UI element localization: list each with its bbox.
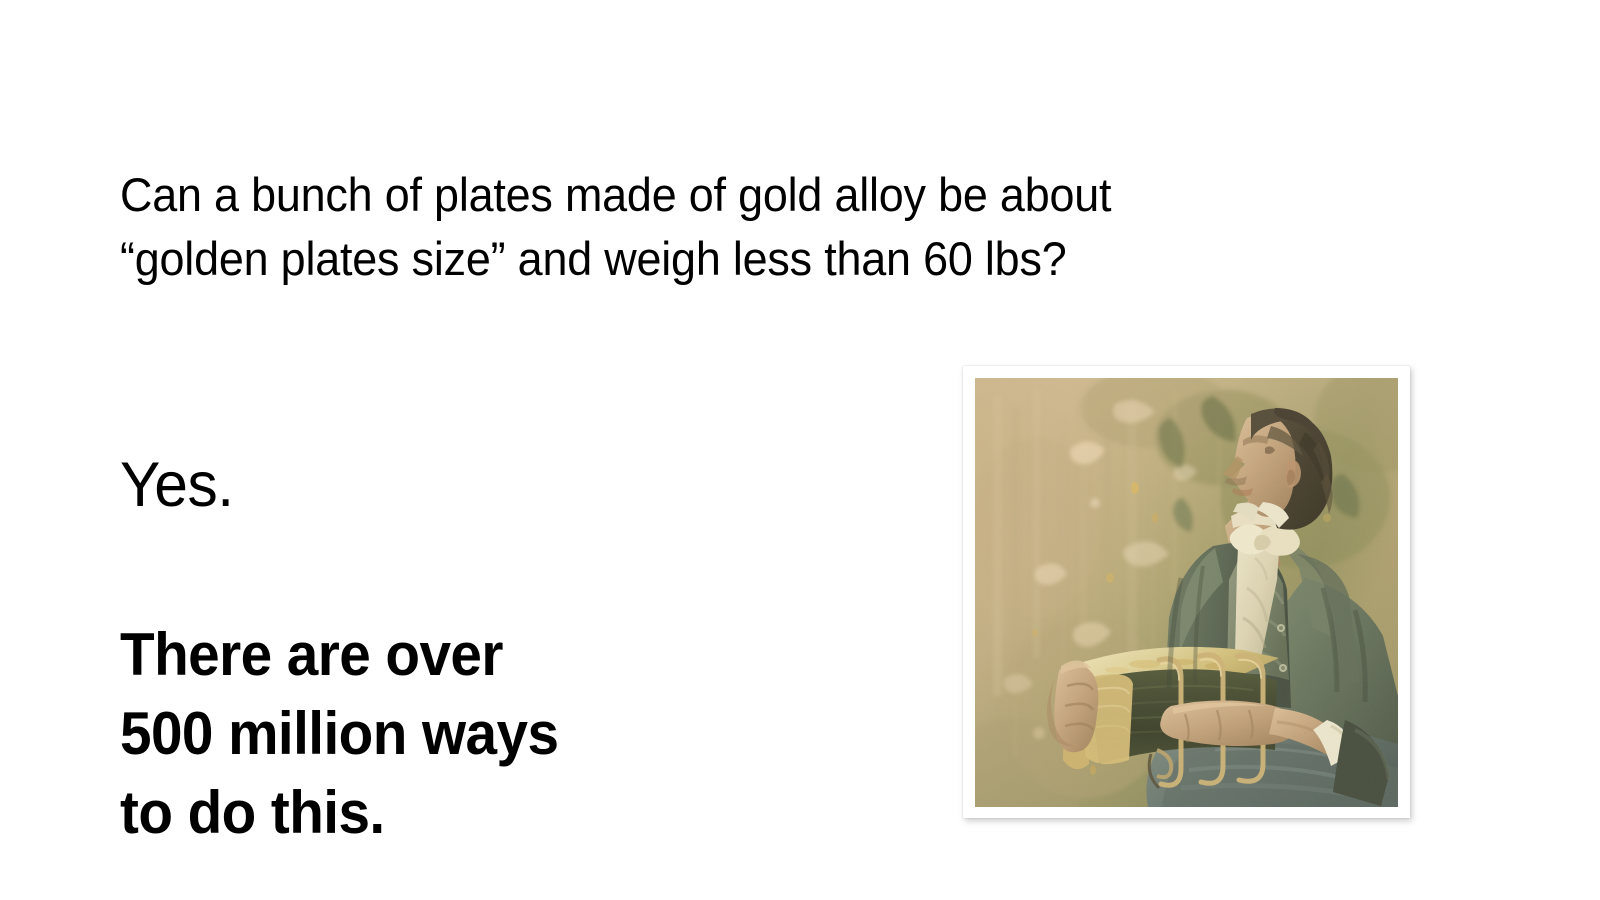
statement-line-3: to do this. [120, 773, 558, 852]
question-line-2: “golden plates size” and weigh less than… [120, 227, 1371, 291]
question-heading: Can a bunch of plates made of gold alloy… [120, 163, 1371, 291]
presentation-slide: Can a bunch of plates made of gold alloy… [0, 0, 1600, 900]
image-frame [963, 366, 1410, 818]
painting-young-man-holding-golden-plates [975, 378, 1398, 807]
statement-text: There are over 500 million ways to do th… [120, 615, 558, 852]
question-line-1: Can a bunch of plates made of gold alloy… [120, 163, 1371, 227]
statement-line-1: There are over [120, 615, 558, 694]
statement-line-2: 500 million ways [120, 694, 558, 773]
answer-text: Yes. [120, 452, 234, 518]
